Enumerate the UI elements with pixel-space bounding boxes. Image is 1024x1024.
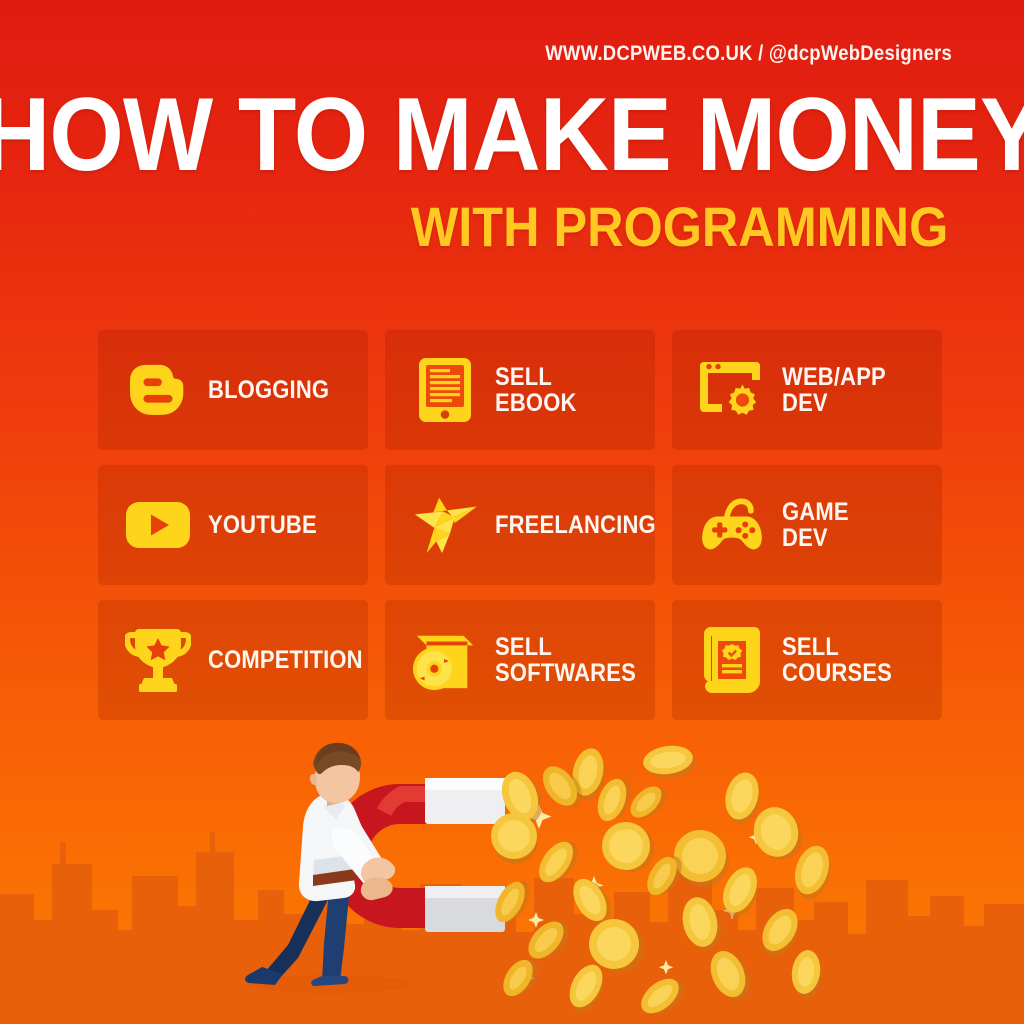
card-competition[interactable]: COMPETITION bbox=[98, 600, 368, 720]
card-youtube[interactable]: YOUTUBE bbox=[98, 465, 368, 585]
card-label: FREELANCING bbox=[495, 512, 656, 538]
card-label: SELL EBOOK bbox=[495, 364, 577, 416]
software-box-icon bbox=[411, 626, 479, 694]
methods-grid: BLOGGING SELL bbox=[98, 330, 943, 720]
magnet-coins-illustration bbox=[0, 734, 1024, 1024]
card-web-app-dev[interactable]: WEB/APP DEV bbox=[672, 330, 942, 450]
businessman-pushing-magnet bbox=[245, 743, 395, 986]
sparkles bbox=[514, 804, 763, 988]
site-handle[interactable]: WWW.DCPWEB.CO.UK / @dcpWebDesigners bbox=[545, 41, 952, 66]
card-label: COMPETITION bbox=[208, 647, 363, 673]
card-sell-courses[interactable]: SELL COURSES bbox=[672, 600, 942, 720]
horseshoe-magnet bbox=[348, 778, 505, 932]
card-game-dev[interactable]: GAME DEV bbox=[672, 465, 942, 585]
card-freelancing[interactable]: FREELANCING bbox=[385, 465, 655, 585]
ground-shadow bbox=[248, 975, 412, 993]
browser-gear-icon bbox=[698, 356, 766, 424]
card-blogging[interactable]: BLOGGING bbox=[98, 330, 368, 450]
infographic-poster: WWW.DCPWEB.CO.UK / @dcpWebDesigners HOW … bbox=[0, 0, 1024, 1024]
ereader-icon bbox=[411, 356, 479, 424]
page-title: HOW TO MAKE MONEY bbox=[0, 83, 1024, 187]
freelancer-bird-icon bbox=[411, 491, 479, 559]
trophy-icon bbox=[124, 626, 192, 694]
gold-coins bbox=[483, 742, 838, 1023]
youtube-icon bbox=[124, 491, 192, 559]
certificate-icon bbox=[698, 626, 766, 694]
card-label: WEB/APP DEV bbox=[782, 364, 886, 416]
card-label: SELL SOFTWARES bbox=[495, 634, 636, 686]
page-subtitle: WITH PROGRAMMING bbox=[410, 199, 948, 255]
card-sell-ebook[interactable]: SELL EBOOK bbox=[385, 330, 655, 450]
card-label: YOUTUBE bbox=[208, 512, 317, 538]
gamepad-icon bbox=[698, 491, 766, 559]
card-sell-softwares[interactable]: SELL SOFTWARES bbox=[385, 600, 655, 720]
card-label: SELL COURSES bbox=[782, 634, 892, 686]
card-label: GAME DEV bbox=[782, 499, 849, 551]
city-skyline-silhouette bbox=[0, 724, 1024, 1024]
blogger-icon bbox=[124, 356, 192, 424]
card-label: BLOGGING bbox=[208, 377, 329, 403]
